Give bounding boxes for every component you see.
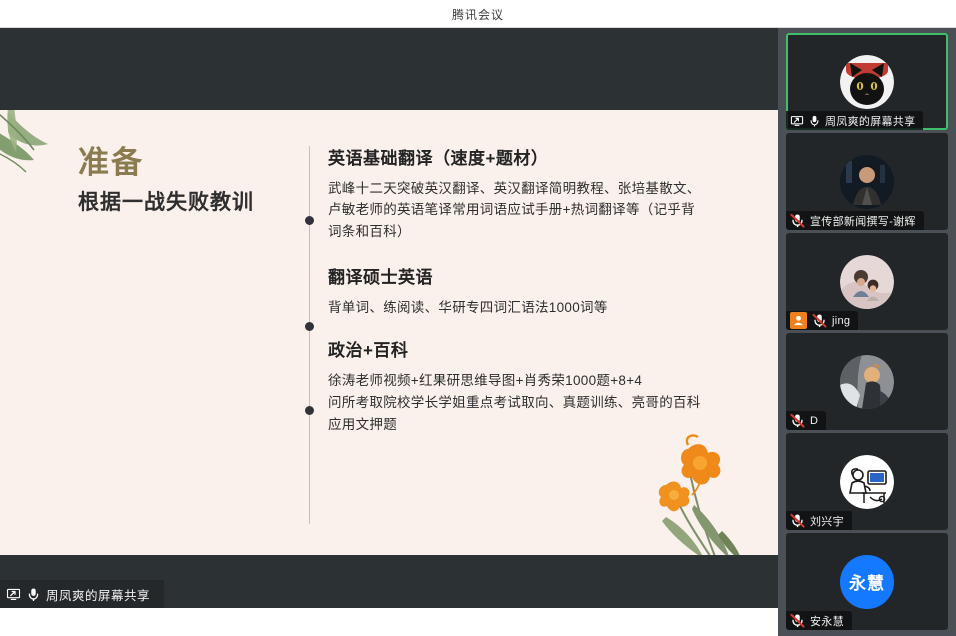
microphone-muted-icon <box>812 313 827 328</box>
participant-name: jing <box>832 315 850 327</box>
avatar <box>840 55 894 109</box>
screen-share-icon <box>790 114 804 128</box>
slide-title: 准备 <box>78 146 288 180</box>
section-heading: 翻译硕士英语 <box>328 265 708 291</box>
window-titlebar: 腾讯会议 <box>0 0 956 28</box>
section-heading: 政治+百科 <box>328 338 708 364</box>
avatar <box>840 155 894 209</box>
participant-status-bar: 周凤爽的屏幕共享 <box>786 111 923 130</box>
participant-status-bar: 宣传部新闻撰写-谢辉 <box>786 211 924 230</box>
participant-status-bar: 安永慧 <box>786 611 852 630</box>
participant-tile[interactable]: D <box>786 333 948 430</box>
timeline-bullet-1 <box>305 216 314 225</box>
slide-section-3: 政治+百科 徐涛老师视频+红果研思维导图+肖秀荣1000题+8+4 问所考取院校… <box>328 338 708 435</box>
slide-section-2: 翻译硕士英语 背单词、练阅读、华研专四词汇语法1000词等 <box>328 265 708 318</box>
avatar <box>840 255 894 309</box>
microphone-muted-icon <box>790 213 805 228</box>
avatar <box>840 355 894 409</box>
slide-subtitle: 根据一战失败教训 <box>78 190 288 215</box>
section-heading: 英语基础翻译（速度+题材） <box>328 146 708 172</box>
section-body: 徐涛老师视频+红果研思维导图+肖秀荣1000题+8+4 问所考取院校学长学姐重点… <box>328 370 708 436</box>
avatar <box>840 455 894 509</box>
microphone-icon <box>809 114 820 128</box>
window-title: 腾讯会议 <box>452 6 504 23</box>
participant-name: 安永慧 <box>810 613 844 629</box>
timeline-bullet-3 <box>305 406 314 415</box>
slide-heading-block: 准备 根据一战失败教训 <box>78 146 288 215</box>
participant-tile[interactable]: 刘兴宇 <box>786 433 948 530</box>
timeline-rail <box>309 146 310 524</box>
screen-share-icon <box>6 587 21 602</box>
participant-name: 宣传部新闻撰写-谢辉 <box>810 213 916 229</box>
slide-content-column: 英语基础翻译（速度+题材） 武峰十二天突破英汉翻译、英汉翻译简明教程、张培基散文… <box>328 146 708 452</box>
microphone-muted-icon <box>790 413 805 428</box>
participant-sidebar[interactable]: 周凤爽的屏幕共享 <box>778 28 956 636</box>
participant-tile[interactable]: 宣传部新闻撰写-谢辉 <box>786 133 948 230</box>
screen-share-strip: 周凤爽的屏幕共享 <box>0 580 778 608</box>
microphone-icon <box>27 587 40 602</box>
participant-name: D <box>810 415 818 427</box>
participant-name: 刘兴宇 <box>810 513 844 529</box>
presentation-slide: 准备 根据一战失败教训 英语基础翻译（速度+题材） 武峰十二天突破英汉翻译、英汉… <box>0 110 778 555</box>
shared-screen-stage[interactable]: 准备 根据一战失败教训 英语基础翻译（速度+题材） 武峰十二天突破英汉翻译、英汉… <box>0 28 778 608</box>
participant-tile[interactable]: jing <box>786 233 948 330</box>
section-body: 武峰十二天突破英汉翻译、英汉翻译简明教程、张培基散文、卢敏老师的英语笔译常用词语… <box>328 178 708 244</box>
microphone-muted-icon <box>790 513 805 528</box>
participant-tile[interactable]: 永慧 安永慧 <box>786 533 948 630</box>
participant-status-bar: jing <box>786 311 858 330</box>
avatar: 永慧 <box>840 555 894 609</box>
participant-tile[interactable]: 周凤爽的屏幕共享 <box>786 33 948 130</box>
host-badge-icon <box>790 312 807 329</box>
participant-name: 周凤爽的屏幕共享 <box>825 113 915 129</box>
timeline-bullet-2 <box>305 322 314 331</box>
tencent-meeting-window: 腾讯会议 <box>0 0 956 636</box>
microphone-muted-icon <box>790 613 805 628</box>
participant-status-bar: D <box>786 411 826 430</box>
slide-section-1: 英语基础翻译（速度+题材） 武峰十二天突破英汉翻译、英汉翻译简明教程、张培基散文… <box>328 146 708 243</box>
participant-status-bar: 刘兴宇 <box>786 511 852 530</box>
screen-share-indicator[interactable]: 周凤爽的屏幕共享 <box>0 580 164 608</box>
share-owner-label: 周凤爽的屏幕共享 <box>46 585 150 604</box>
section-body: 背单词、练阅读、华研专四词汇语法1000词等 <box>328 297 708 319</box>
